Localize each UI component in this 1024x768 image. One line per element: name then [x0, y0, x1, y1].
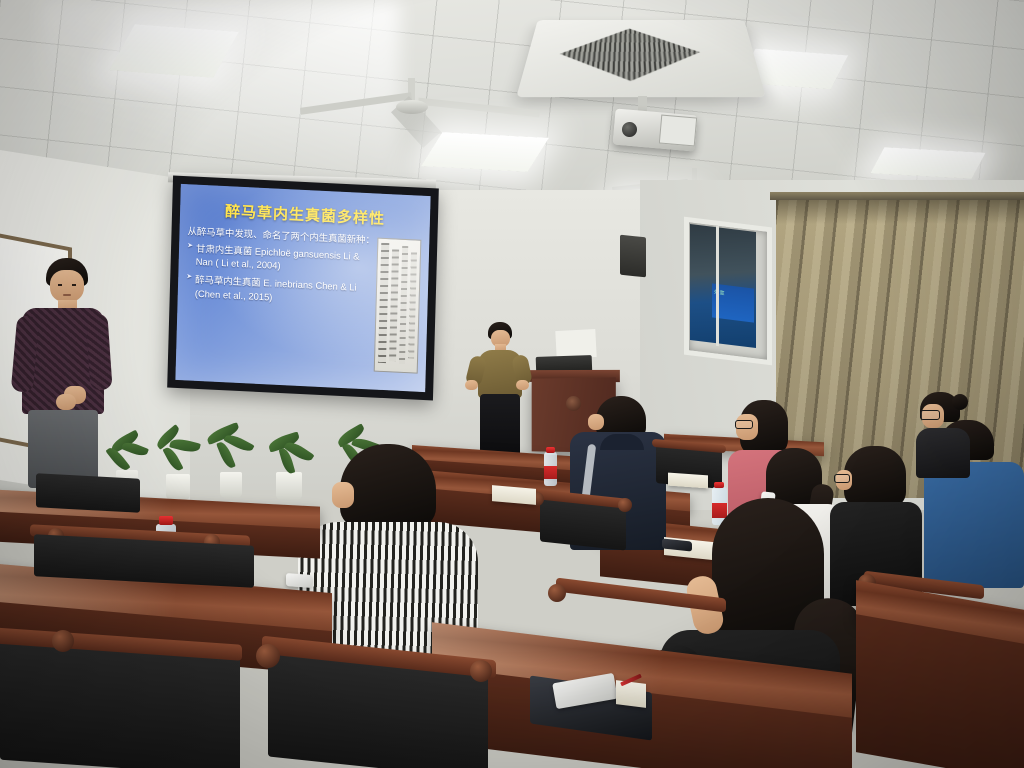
chair-knob [618, 498, 632, 512]
presenter [462, 322, 532, 462]
chair-knob [256, 644, 280, 668]
chair-knob [470, 660, 492, 682]
chair-back[interactable] [36, 473, 140, 512]
panel-light-icon [421, 132, 549, 172]
notebook[interactable] [668, 473, 708, 489]
glasses-icon [920, 410, 940, 420]
curtain-pleat-shadow [776, 198, 1024, 224]
smartphone[interactable] [286, 573, 312, 588]
bottle-cap [546, 447, 555, 453]
projector-panel [659, 114, 697, 146]
panel-light-icon [870, 147, 985, 178]
chair-knob [52, 630, 74, 652]
wall-speaker [620, 235, 646, 278]
plant-pot [220, 472, 242, 498]
classroom-photo: 外宣 醉马草内生真菌多样性 从醉马草中发现、命名了两个内生真菌新种： 甘肃内生真… [0, 0, 1024, 768]
plant-pot [166, 474, 190, 500]
standing-man-left [14, 258, 114, 488]
screen-glare [175, 184, 430, 392]
chair-knob [548, 584, 566, 602]
glasses-icon [834, 474, 850, 483]
projected-slide: 醉马草内生真菌多样性 从醉马草中发现、命名了两个内生真菌新种： 甘肃内生真菌 E… [175, 184, 430, 392]
bottle-cap [714, 482, 724, 488]
ceiling-fan-front [396, 100, 428, 114]
bottle-label [544, 466, 557, 479]
window-mullion [716, 226, 719, 346]
bottle-cap [159, 516, 173, 525]
glasses-icon [735, 420, 753, 429]
curtain-rod [770, 192, 1024, 200]
woman-glasses-back [912, 392, 974, 478]
hair-bun [952, 394, 968, 410]
